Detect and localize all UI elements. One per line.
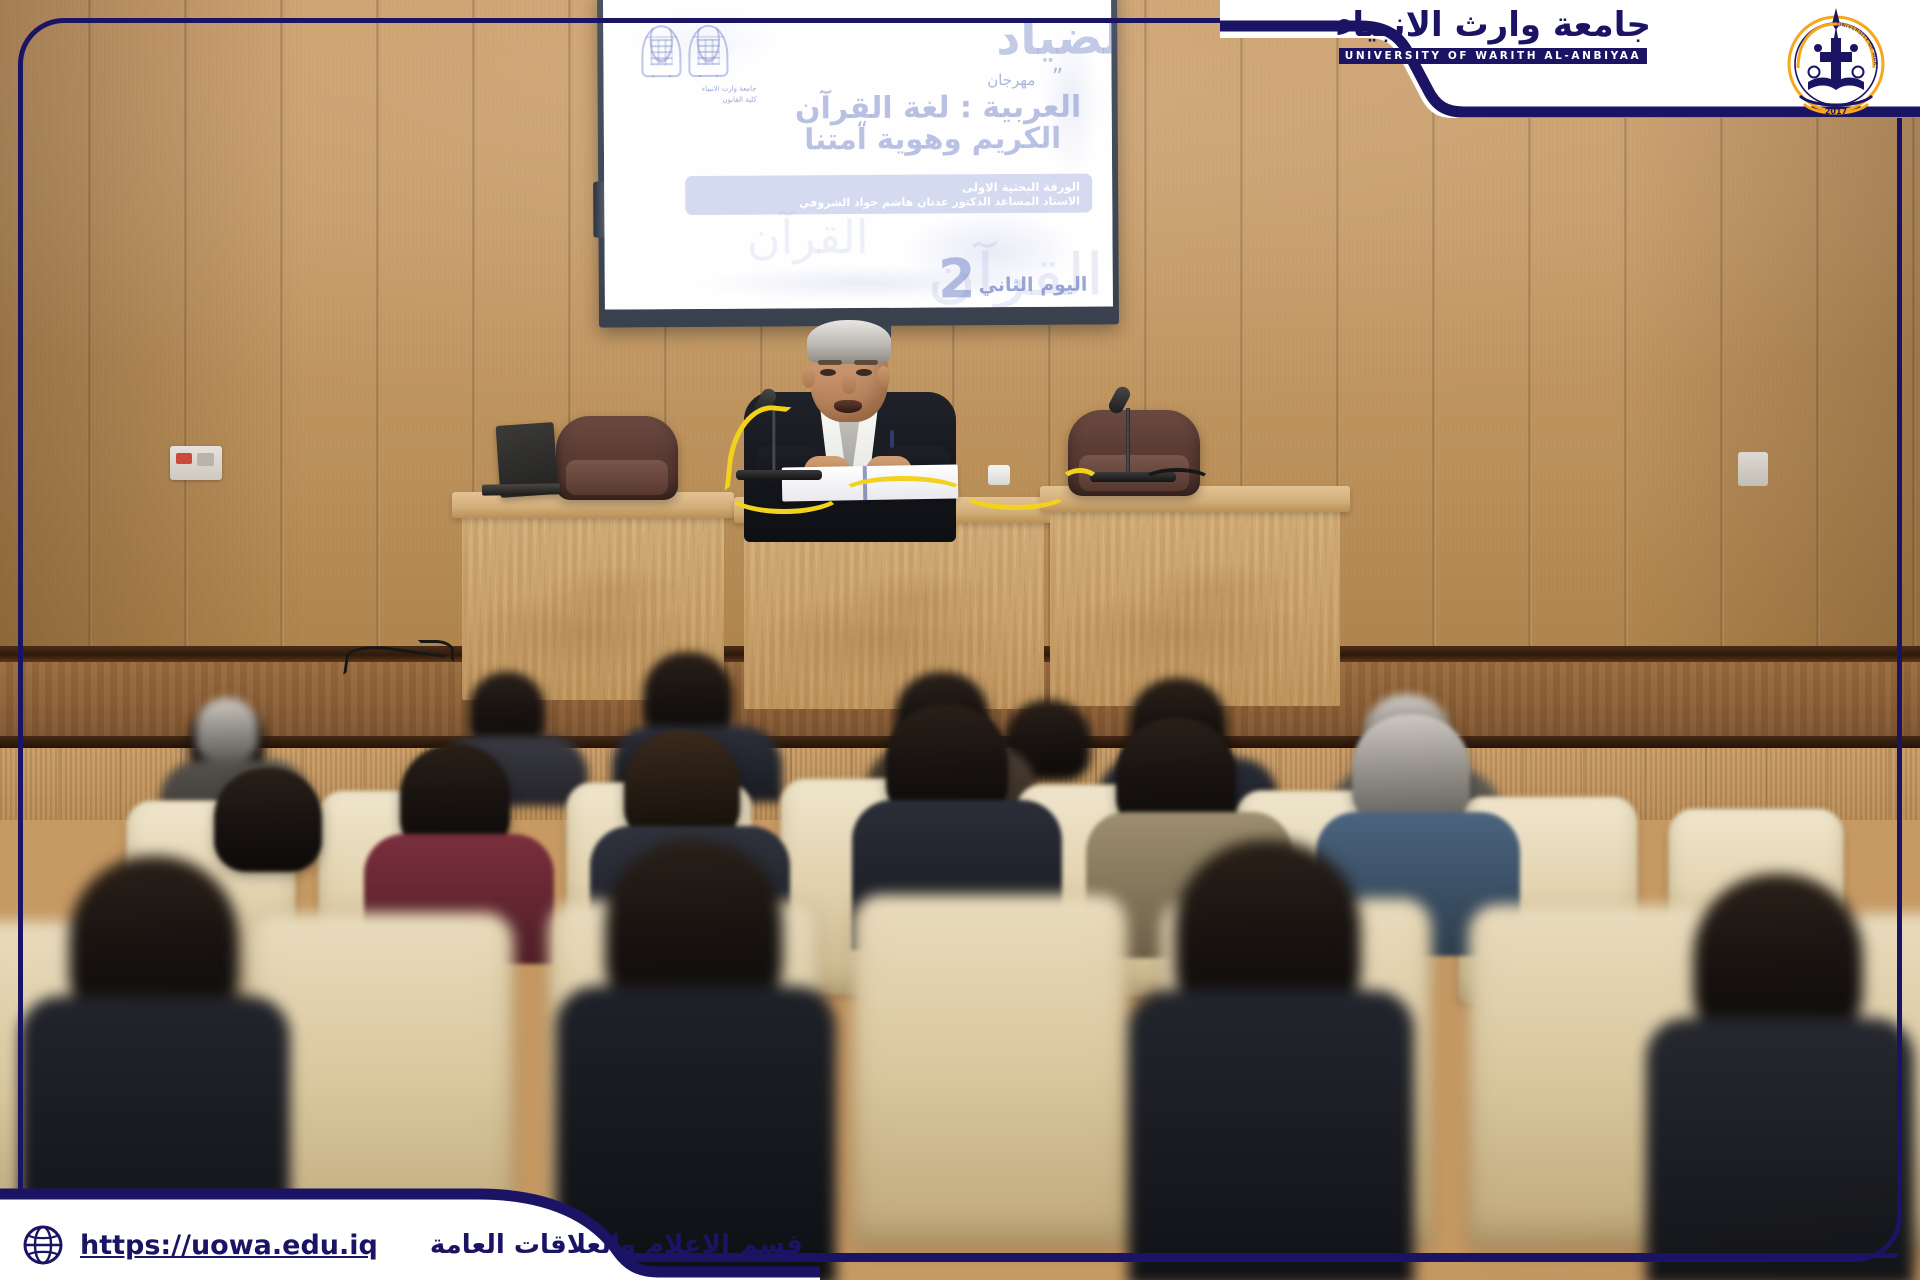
speaker-brow-right [854, 360, 878, 365]
university-name-arabic: جامعة وارث الانبياء [1328, 8, 1658, 44]
audience-head [214, 768, 322, 872]
slide-title-line-2: الكريم وهوية امتنا [804, 121, 1061, 157]
speaker-eye-left [820, 369, 836, 376]
audience-head [1352, 714, 1470, 826]
yellow-cable-loop-3 [960, 474, 1070, 510]
seal-year-text: 2017 [1825, 107, 1847, 116]
audience-head [196, 698, 258, 760]
speaker-brow-left [818, 360, 842, 365]
laptop-keyboard [482, 483, 560, 495]
audience-shoulders [1646, 1018, 1914, 1280]
yellow-cable-loop-2 [840, 476, 966, 510]
speaker-mouth [834, 400, 862, 413]
yellow-cable-loop-1 [724, 470, 844, 514]
speaker-nose [842, 374, 856, 394]
crest-caption-line-2: كلية القانون [637, 94, 757, 105]
slide-ornament-calligraphy-2: القرآن [747, 210, 869, 265]
presentation-slide: القرآن القرآن جامعة وارث الانبياء كلية ا… [603, 0, 1113, 310]
slide-day-label: اليوم الثاني [979, 274, 1088, 297]
university-seal-logo: 2017 UNIVERSITY OF WARITH AL-ANBIYAA [1780, 4, 1892, 128]
yellow-cable-end [1060, 468, 1100, 496]
side-desk-right [1050, 486, 1340, 706]
footer-content: https://uowa.edu.iq قسم الاعلام والعلاقا… [22, 1224, 803, 1266]
office-chair-left [556, 416, 678, 500]
university-name-english: UNIVERSITY OF WARITH AL-ANBIYAA [1339, 48, 1648, 64]
college-of-law-crest-icon [688, 25, 728, 77]
slide-quote-open: ” [1052, 65, 1064, 90]
slide-pre-label: مهرجان [987, 71, 1035, 89]
screen-display-area: القرآن القرآن جامعة وارث الانبياء كلية ا… [603, 0, 1113, 310]
university-crest-icon [641, 25, 681, 77]
slide-crest-caption: جامعة وارث الانبياء كلية القانون [637, 84, 757, 106]
audience-shoulders [1128, 990, 1414, 1280]
speaker-eye-right [856, 369, 872, 376]
slide-paper-label: الورقة البحثية الاولى [962, 180, 1080, 195]
website-url-link[interactable]: https://uowa.edu.iq [80, 1230, 378, 1261]
photo-stage: القرآن القرآن جامعة وارث الانبياء كلية ا… [0, 0, 1920, 1280]
slide-speaker-name: الاستاذ المساعد الدكتور عدنان هاشم جواد … [799, 195, 1080, 210]
floor-cable-loop [418, 640, 454, 662]
speaker-hair [807, 320, 891, 364]
globe-icon [22, 1224, 64, 1266]
crest-caption-line-1: جامعة وارث الانبياء [637, 84, 757, 95]
microphone-stand-right [1126, 408, 1130, 474]
slide-big-word: الضياد [996, 10, 1113, 66]
side-desk-right-grain [1050, 512, 1340, 706]
university-wordmark: جامعة وارث الانبياء UNIVERSITY OF WARITH… [1328, 8, 1658, 64]
audience-head [470, 672, 544, 746]
department-name-arabic: قسم الاعلام والعلاقات العامة [430, 1230, 803, 1260]
wall-socket-right [1738, 452, 1768, 486]
wall-socket-left [170, 446, 222, 480]
speaker-desk-grain [744, 523, 1044, 709]
projector-screen: القرآن القرآن جامعة وارث الانبياء كلية ا… [597, 0, 1119, 328]
slide-crest-group [641, 25, 728, 78]
speaker-ear-left [802, 366, 815, 388]
slide-day-number: 2 [938, 247, 976, 309]
slide-speaker-band: الورقة البحثية الاولى الاستاذ المساعد ال… [685, 174, 1092, 215]
auditorium-seat [852, 894, 1128, 1246]
speaker-ear-right [877, 366, 890, 388]
speaker-pocket-pen [890, 430, 894, 448]
black-mic-cable [1142, 468, 1212, 494]
